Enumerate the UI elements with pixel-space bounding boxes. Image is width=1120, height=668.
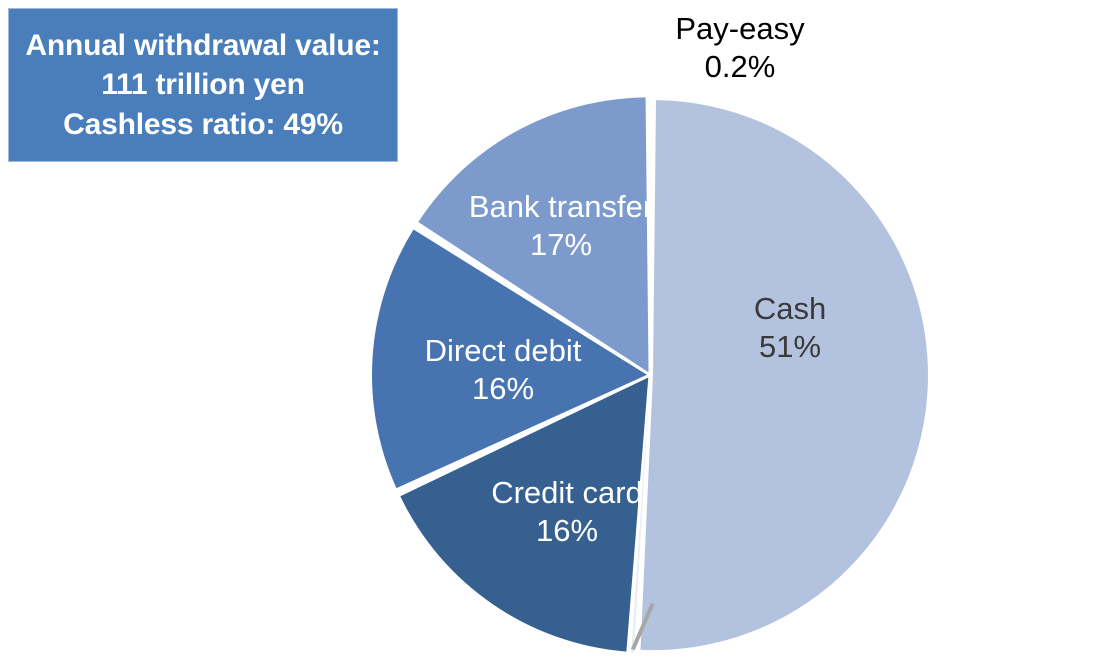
pie-chart-figure: Annual withdrawal value: 111 trillion ye… xyxy=(0,0,1120,668)
pie-slice-cash[interactable] xyxy=(640,100,928,650)
pie-graphic xyxy=(0,0,1120,668)
pie-svg xyxy=(0,0,1120,668)
